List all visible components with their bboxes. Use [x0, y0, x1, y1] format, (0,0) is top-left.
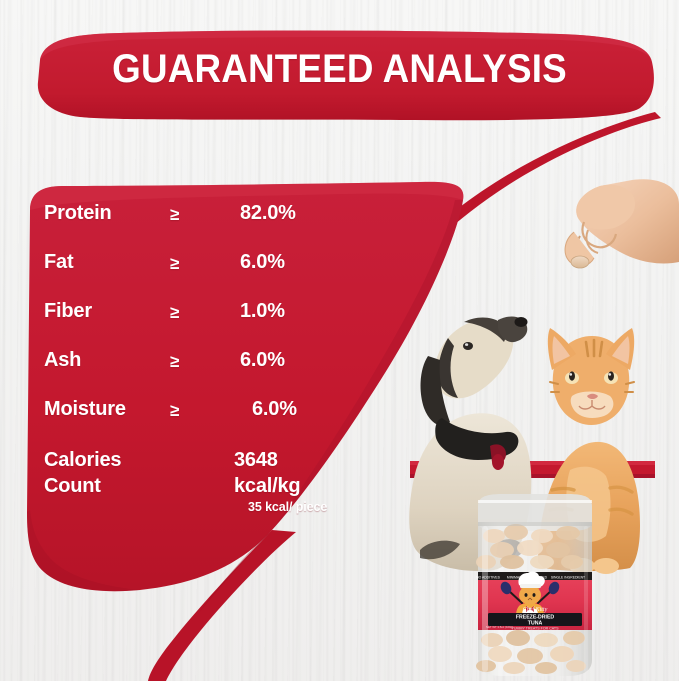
- table-row: Moisture ≥ 6.0%: [44, 399, 344, 448]
- nutrient-value: 6.0%: [240, 350, 344, 372]
- page-title: GUARANTEED ANALYSIS: [27, 47, 652, 92]
- hand-with-treat-photo: [565, 179, 679, 268]
- jar-net-weight: NET WT 3.5oz (100g): [486, 625, 513, 629]
- calories-label-line2: Count: [44, 474, 234, 500]
- calories-label: Calories Count: [44, 448, 234, 499]
- nutrient-name: Ash: [44, 350, 164, 372]
- calories-note: 35 kcal/ piece: [248, 500, 327, 514]
- nutrition-table: Protein ≥ 82.0% Fat ≥ 6.0% Fiber ≥ 1.0% …: [44, 203, 344, 448]
- guaranteed-analysis-infographic: GUARANTEED ANALYSIS Protein ≥ 82.0% Fat …: [0, 0, 679, 681]
- nutrient-operator: ≥: [164, 252, 240, 274]
- nutrient-operator: ≥: [164, 203, 240, 225]
- nutrient-name: Fiber: [44, 301, 164, 323]
- table-row: Ash ≥ 6.0%: [44, 350, 344, 399]
- nutrient-operator: ≥: [164, 399, 240, 421]
- product-jar-photo: NO ADDITIVES MINIMALLY PROCESSED SINGLE …: [476, 494, 592, 676]
- nutrient-operator: ≥: [164, 301, 240, 323]
- nutrient-name: Moisture: [44, 399, 164, 421]
- nutrient-operator: ≥: [164, 350, 240, 372]
- nutrient-name: Fat: [44, 252, 164, 274]
- nutrient-value: 82.0%: [240, 203, 344, 225]
- calories-value: 3648 kcal/kg: [234, 448, 344, 499]
- calories-value-line1: 3648: [234, 448, 344, 474]
- calories-value-line2: kcal/kg: [234, 474, 344, 500]
- nutrient-value: 6.0%: [240, 252, 344, 274]
- pet-photo-zone: NO ADDITIVES MINIMALLY PROCESSED SINGLE …: [402, 170, 679, 681]
- table-row: Protein ≥ 82.0%: [44, 203, 344, 252]
- jar-banner-left: NO ADDITIVES: [476, 575, 500, 579]
- table-row: Fiber ≥ 1.0%: [44, 301, 344, 350]
- nutrient-value: 1.0%: [240, 301, 344, 323]
- jar-subtitle: YUMMY TREATS FOR CATS: [511, 627, 559, 631]
- nutrient-value: 6.0%: [240, 399, 344, 421]
- jar-brand-script: Chef Kitty: [523, 606, 548, 613]
- calories-row: Calories Count 3648 kcal/kg: [44, 448, 344, 499]
- nutrient-name: Protein: [44, 203, 164, 225]
- svg-text:SINGLE INGREDIENT: SINGLE INGREDIENT: [551, 575, 585, 579]
- table-row: Fat ≥ 6.0%: [44, 252, 344, 301]
- calories-label-line1: Calories: [44, 448, 234, 474]
